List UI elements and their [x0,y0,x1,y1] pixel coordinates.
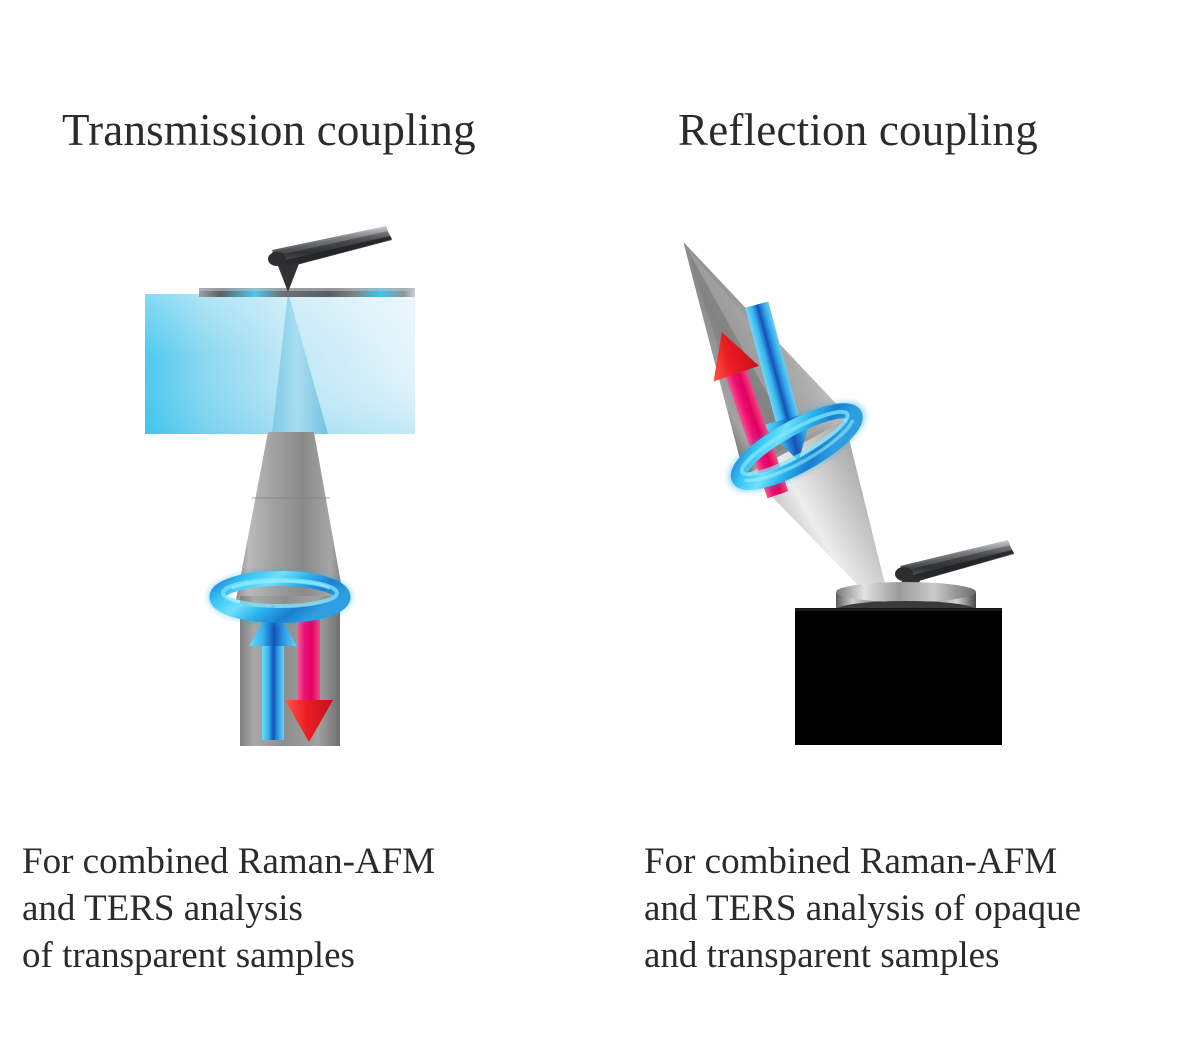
transmission-coupling-illustration [145,226,415,746]
panel-title-transmission: Transmission coupling [62,108,476,153]
caption-line: and TERS analysis of opaque [644,885,1200,932]
caption-line: and TERS analysis [22,885,582,932]
caption-transmission: For combined Raman-AFM and TERS analysis… [22,838,582,979]
caption-line: For combined Raman-AFM [644,838,1200,885]
caption-reflection: For combined Raman-AFM and TERS analysis… [644,838,1200,979]
caption-line: For combined Raman-AFM [22,838,582,885]
panel-title-reflection: Reflection coupling [678,108,1038,153]
afm-cantilever [268,226,392,292]
figure-root: Transmission coupling Reflection couplin… [0,0,1200,1042]
caption-line: of transparent samples [22,932,582,979]
caption-line: and transparent samples [644,932,1200,979]
opaque-sample-block [795,608,1002,745]
reflection-coupling-illustration [622,208,1014,745]
